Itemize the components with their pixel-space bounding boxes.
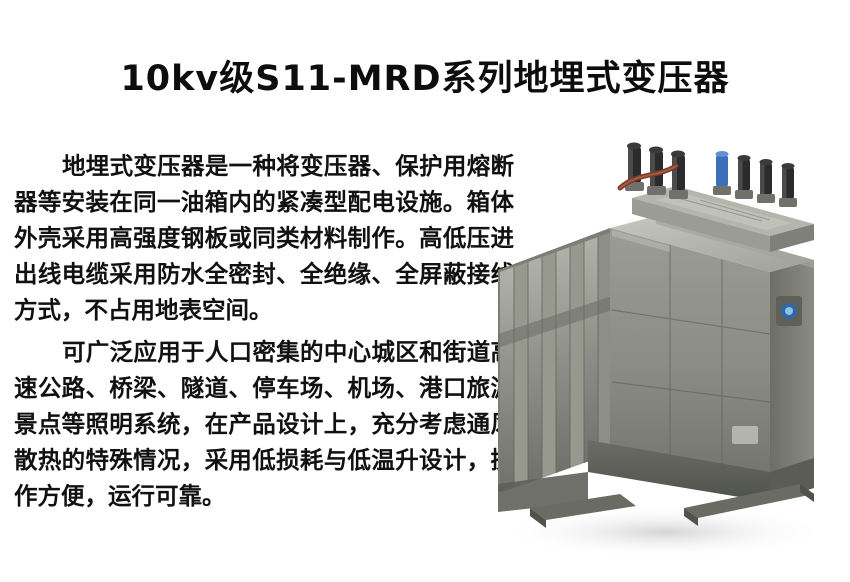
page-title: 10kv级S11-MRD系列地埋式变压器 <box>0 50 850 101</box>
tank-side-panel <box>770 260 814 478</box>
side-terminal-box <box>776 296 802 326</box>
lv-bushings <box>713 151 797 207</box>
hv-bushings <box>620 143 688 200</box>
description-paragraph-1: 地埋式变压器是一种将变压器、保护用熔断器等安装在同一油箱内的紧凑型配电设施。箱体… <box>14 148 514 328</box>
nameplate <box>732 426 758 444</box>
product-description: 地埋式变压器是一种将变压器、保护用熔断器等安装在同一油箱内的紧凑型配电设施。箱体… <box>14 148 514 520</box>
description-paragraph-2: 可广泛应用于人口密集的中心城区和街道高速公路、桥梁、隧道、停车场、机场、港口旅游… <box>14 334 514 514</box>
product-photo <box>470 120 850 560</box>
product-promo-image: 10kv级S11-MRD系列地埋式变压器 地埋式变压器是一种将变压器、保护用熔断… <box>0 0 850 582</box>
